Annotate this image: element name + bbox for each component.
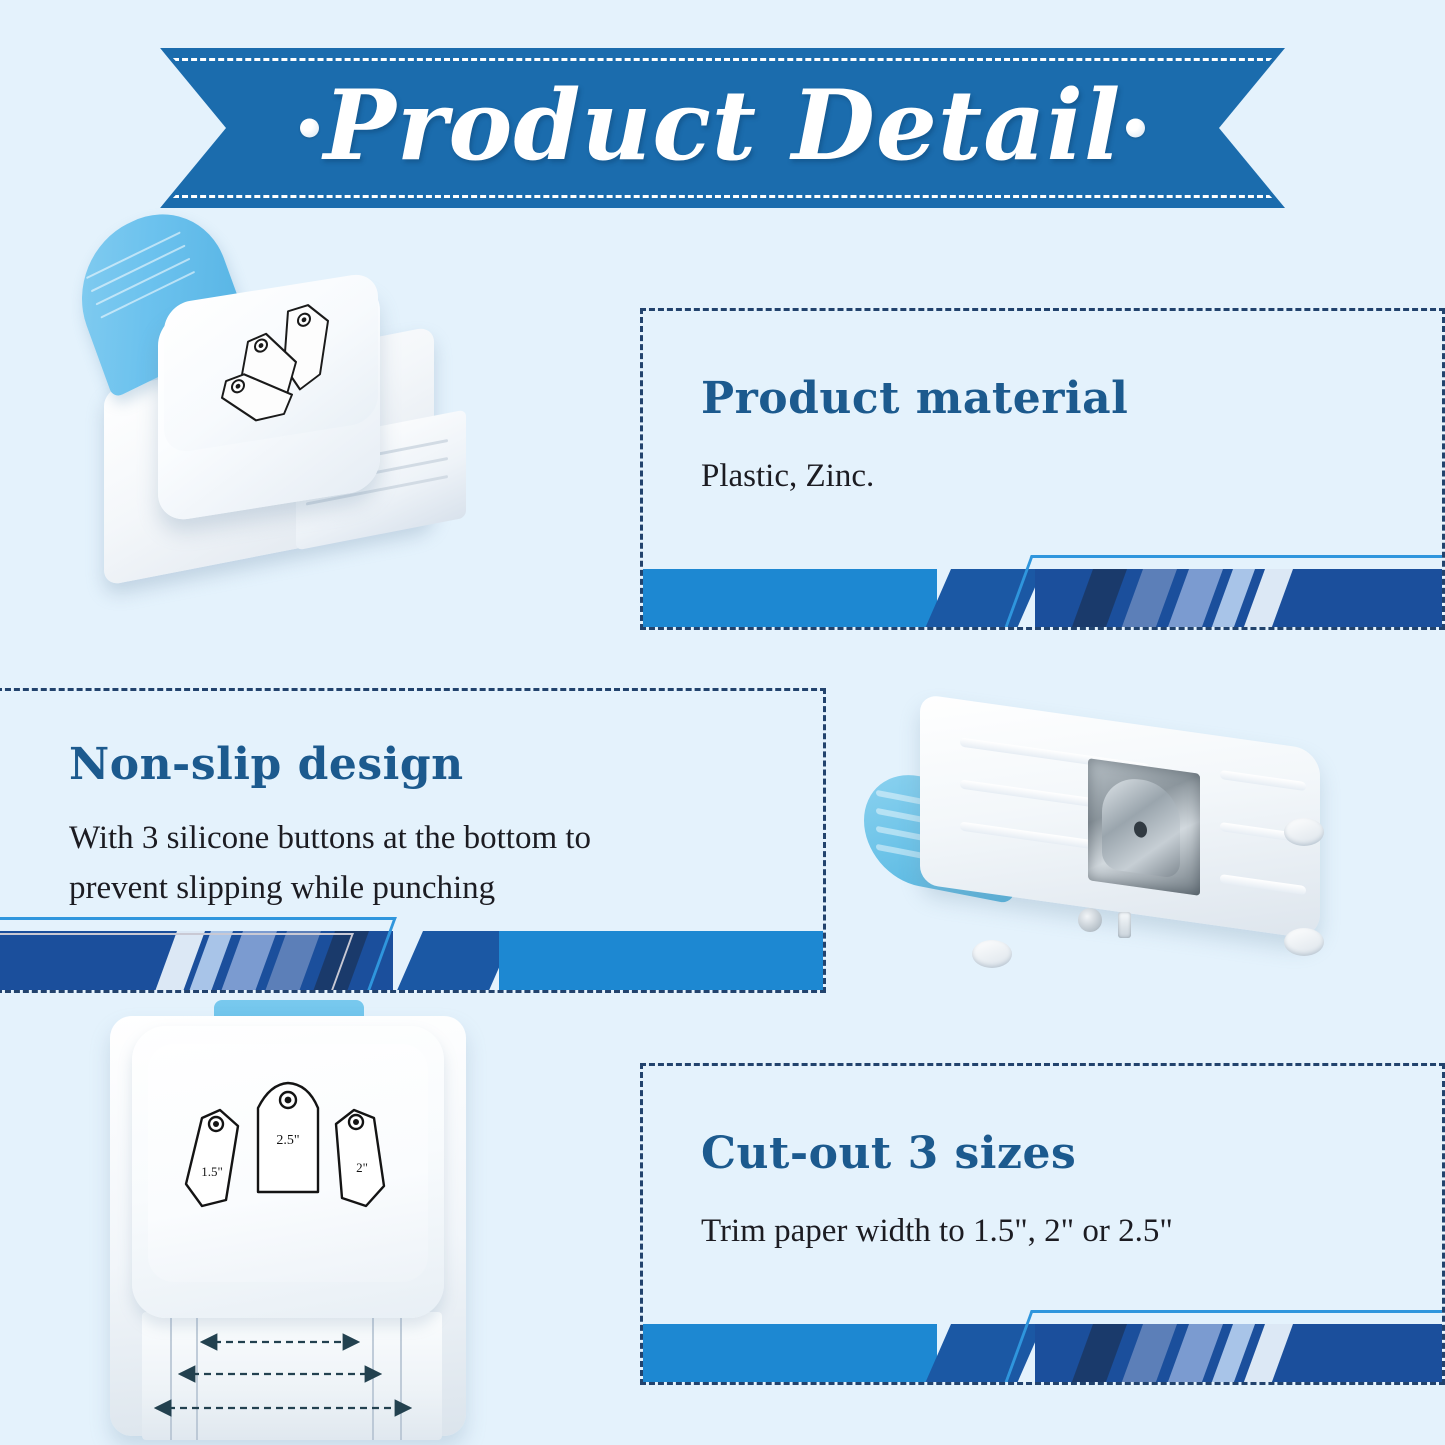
banner-title: Product Detail (160, 48, 1285, 208)
punch-cutting-die (1102, 774, 1180, 879)
panel-non-slip-design-body-line1: With 3 silicone buttons at the bottom to (69, 813, 591, 863)
panel-product-material-heading: Product material (701, 373, 1128, 424)
punch-screw-icon (1078, 908, 1102, 932)
punch-face-top-down: 1.5" 2.5" 2" (148, 1044, 428, 1282)
decor-band-non-slip-design (0, 913, 826, 993)
decor-band-cut-out-3-sizes (640, 1306, 1445, 1385)
tag-size-label-small: 1.5" (201, 1164, 223, 1179)
tag-sizes-diagram-icon: 1.5" 2.5" 2" (176, 1080, 402, 1230)
panel-non-slip-design: Non-slip design With 3 silicone buttons … (0, 688, 826, 993)
infographic-page: Product Detail (0, 0, 1445, 1445)
silicone-foot-1 (972, 940, 1012, 968)
silicone-foot-2 (1284, 818, 1324, 846)
panel-non-slip-design-heading: Non-slip design (69, 739, 464, 790)
punch-metal-die-window (1088, 758, 1200, 896)
photo-punch-underside-view (860, 690, 1400, 1030)
silicone-foot-3 (1284, 928, 1324, 956)
punch-vent-slot-2 (1118, 912, 1131, 938)
panel-non-slip-design-body-line2: prevent slipping while punching (69, 863, 591, 913)
photo-punch-three-quarter-view (60, 210, 540, 670)
panel-product-material: Product material Plastic, Zinc. (640, 308, 1445, 630)
measurement-arrows-icon (142, 1312, 442, 1440)
panel-cut-out-3-sizes-body: Trim paper width to 1.5", 2" or 2.5" (701, 1206, 1173, 1256)
tag-size-label-medium: 2" (356, 1160, 368, 1175)
decor-band-product-material (640, 551, 1445, 630)
panel-cut-out-3-sizes-heading: Cut-out 3 sizes (701, 1128, 1076, 1179)
punch-guide-plate (142, 1312, 442, 1440)
photo-punch-top-down-view: 1.5" 2.5" 2" (110, 1000, 490, 1445)
tag-size-label-large: 2.5" (276, 1133, 299, 1148)
tag-shapes-icon (216, 296, 346, 435)
panel-cut-out-3-sizes: Cut-out 3 sizes Trim paper width to 1.5"… (640, 1063, 1445, 1385)
panel-product-material-body: Plastic, Zinc. (701, 451, 874, 501)
product-detail-banner: Product Detail (160, 48, 1285, 208)
